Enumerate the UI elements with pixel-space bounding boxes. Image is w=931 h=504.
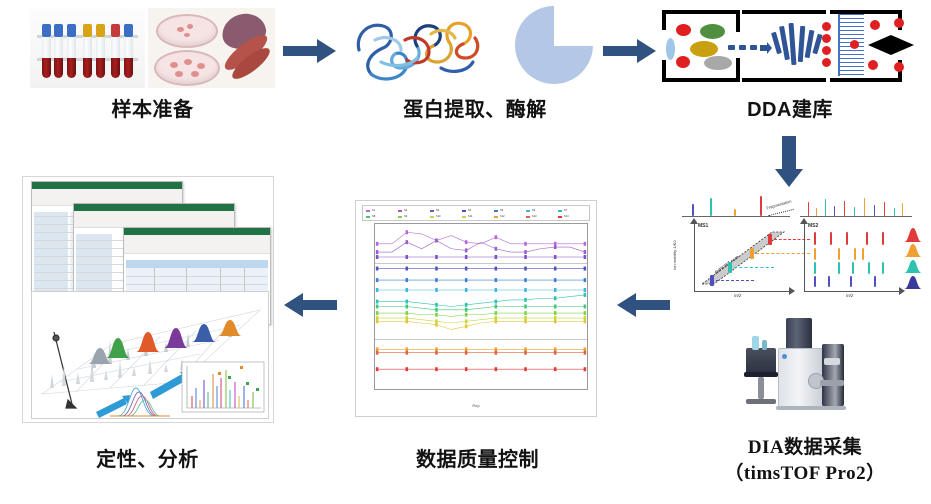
stage-protein-extraction-digestion [345, 4, 610, 92]
stage-dda-library [662, 10, 902, 82]
arrow-sample-to-protein [283, 38, 337, 64]
label-mz-axis-ms1: m/z [734, 293, 741, 298]
beam-arrow-icon [760, 41, 772, 59]
analyte-blob-gray [704, 56, 732, 70]
waterfall-3d-chromatogram [31, 291, 269, 419]
enzyme-pacman-shape [515, 6, 593, 84]
ms1-axis-arrow-x [789, 287, 795, 295]
legend-label: S6 [532, 209, 535, 212]
analyte-blob-lightblue [666, 38, 675, 60]
chart-xlabel: Rep [356, 403, 596, 408]
ms2-axis-arrow-y [800, 218, 808, 224]
legend-label: S3 [436, 209, 439, 212]
arrow-qc-to-identification [283, 292, 337, 318]
legend-swatch [526, 216, 530, 218]
xic-profiles [904, 226, 922, 292]
stage-dia-acquisition: Fragmentation MS1 Ion mobility 1/K0 m/z … [668, 190, 923, 310]
legend-label: S7 [564, 209, 567, 212]
legend-swatch [430, 216, 434, 218]
legend-label: S1 [372, 209, 375, 212]
waterfall-svg [32, 292, 268, 418]
legend-label: S8 [372, 215, 375, 218]
chart-legend: S1S2S3S4S5S6S7S8S9S10S11S12S13S14 [362, 205, 590, 221]
arrow-dda-to-dia [774, 136, 804, 188]
legend-swatch [558, 216, 562, 218]
legend-swatch [558, 210, 562, 212]
legend-swatch [494, 210, 498, 212]
legend-label: S14 [564, 215, 569, 218]
caption-quality-control: 数据质量控制 [370, 448, 585, 473]
legend-label: S11 [468, 215, 472, 218]
chart-plot-area [374, 223, 588, 390]
excel-titlebar [124, 228, 270, 235]
legend-swatch [366, 216, 370, 218]
legend-label: S4 [468, 209, 471, 212]
label-ms2: MS2 [808, 223, 818, 229]
analyte-blob-red [676, 24, 691, 36]
label-mz-axis-ms2: m/z [846, 293, 853, 298]
stage-sample-preparation [30, 8, 275, 88]
legend-label: S9 [404, 215, 407, 218]
legend-label: S10 [436, 215, 441, 218]
analyte-blob-yellow [690, 41, 718, 57]
ms1-axis-arrow-y [690, 218, 698, 224]
legend-swatch [398, 216, 402, 218]
chart-series-svg [375, 224, 587, 389]
legend-swatch [462, 210, 466, 212]
analyte-blob-green [700, 24, 725, 39]
timstof-pro2-instrument-photo [742, 318, 872, 426]
detector-diamond [868, 35, 914, 55]
stage-identification-analysis [22, 176, 274, 423]
analyte-blob-red-2 [676, 56, 690, 68]
legend-swatch [398, 210, 402, 212]
fragment-spectrum-inset [182, 362, 264, 412]
tissue-culture-photo [148, 8, 275, 88]
legend-swatch [430, 210, 434, 212]
caption-identification-analysis: 定性、分析 [40, 448, 255, 473]
legend-label: S2 [404, 209, 407, 212]
legend-swatch [462, 216, 466, 218]
excel-titlebar [74, 204, 234, 211]
legend-label: S5 [500, 209, 503, 212]
legend-swatch [526, 210, 530, 212]
diapasef-schematic: Fragmentation MS1 Ion mobility 1/K0 m/z … [668, 190, 923, 302]
excel-titlebar [32, 182, 182, 189]
label-ion-mobility-axis: Ion mobility 1/K0 [672, 240, 677, 270]
caption-dia-acquisition-line2: （timsTOF Pro2） [690, 462, 920, 486]
legend-label: S13 [532, 215, 537, 218]
protein-ribbon-structure [345, 4, 495, 92]
legend-swatch [366, 210, 370, 212]
blood-tubes-photo [30, 8, 145, 88]
quality-control-chart: S1S2S3S4S5S6S7S8S9S10S11S12S13S14 Rep [355, 200, 597, 417]
arrow-dia-to-qc [616, 292, 670, 318]
label-fragmentation: Fragmentation [766, 199, 792, 211]
caption-dda-library: DDA建库 [680, 98, 900, 123]
caption-protein-extraction-digestion: 蛋白提取、酶解 [340, 98, 610, 123]
legend-label: S12 [500, 215, 505, 218]
caption-dia-acquisition-line1: DIA数据采集 [690, 436, 920, 460]
arrow-protein-to-dda [603, 38, 657, 64]
caption-sample-preparation: 样本准备 [30, 98, 275, 123]
legend-swatch [494, 216, 498, 218]
